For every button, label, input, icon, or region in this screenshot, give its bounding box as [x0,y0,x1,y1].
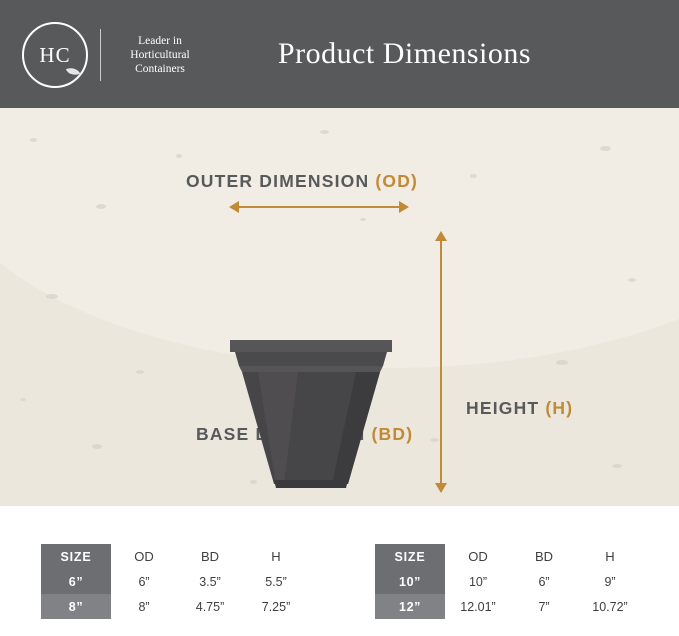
cell-size: 8” [41,594,111,619]
cell-h: 10.72” [577,594,643,619]
speckle-decor [96,204,106,209]
speckle-decor [176,154,182,158]
column-header-bd: BD [511,544,577,569]
header-bar: HC Leader in Horticultural Containers Pr… [0,0,679,108]
cell-bd: 7” [511,594,577,619]
speckle-decor [320,130,329,134]
cell-bd: 3.5” [177,569,243,594]
background-sheen [0,108,679,368]
dimension-table-right: SIZE OD BD H 10” 10” 6” 9” 12” 12.01” 7”… [375,544,643,619]
cell-h: 9” [577,569,643,594]
table-header-row: SIZE OD BD H [41,544,309,569]
outer-dimension-label: OUTER DIMENSION (OD) [186,171,418,192]
height-text: HEIGHT [466,398,545,418]
speckle-decor [46,294,58,299]
planter-illustration [228,336,394,488]
column-header-size: SIZE [375,544,445,569]
column-header-od: OD [445,544,511,569]
speckle-decor [556,360,568,365]
column-header-bd: BD [177,544,243,569]
cell-bd: 4.75” [177,594,243,619]
speckle-decor [20,398,26,401]
column-header-od: OD [111,544,177,569]
cell-size: 6” [41,569,111,594]
cell-bd: 6” [511,569,577,594]
speckle-decor [30,138,37,142]
column-header-h: H [243,544,309,569]
speckle-decor [92,444,102,449]
table-row: 6” 6” 3.5” 5.5” [41,569,309,594]
cell-size: 12” [375,594,445,619]
table-row: 12” 12.01” 7” 10.72” [375,594,643,619]
column-header-h: H [577,544,643,569]
speckle-decor [628,278,636,282]
cell-od: 10” [445,569,511,594]
speckle-decor [612,464,622,468]
table-row: 10” 10” 6” 9” [375,569,643,594]
column-header-size: SIZE [41,544,111,569]
table-row: 8” 8” 4.75” 7.25” [41,594,309,619]
height-label: HEIGHT (H) [466,398,573,419]
cell-od: 6” [111,569,177,594]
cell-od: 8” [111,594,177,619]
cell-h: 7.25” [243,594,309,619]
diagram-panel: OUTER DIMENSION (OD) HEIGHT (H) BASE DIM… [0,108,679,506]
speckle-decor [360,218,366,221]
dimension-table-left: SIZE OD BD H 6” 6” 3.5” 5.5” 8” 8” 4.75”… [41,544,309,619]
speckle-decor [136,370,144,374]
cell-od: 12.01” [445,594,511,619]
height-arrow [440,240,442,484]
speckle-decor [600,146,611,151]
outer-dimension-text: OUTER DIMENSION [186,171,375,191]
height-abbr: (H) [545,398,573,418]
outer-dimension-abbr: (OD) [375,171,418,191]
page-title: Product Dimensions [0,0,679,108]
table-header-row: SIZE OD BD H [375,544,643,569]
speckle-decor [430,438,439,442]
cell-h: 5.5” [243,569,309,594]
dimension-tables: SIZE OD BD H 6” 6” 3.5” 5.5” 8” 8” 4.75”… [0,506,679,636]
cell-size: 10” [375,569,445,594]
outer-dimension-arrow [238,206,400,208]
speckle-decor [470,174,477,178]
product-dimensions-page: HC Leader in Horticultural Containers Pr… [0,0,679,636]
